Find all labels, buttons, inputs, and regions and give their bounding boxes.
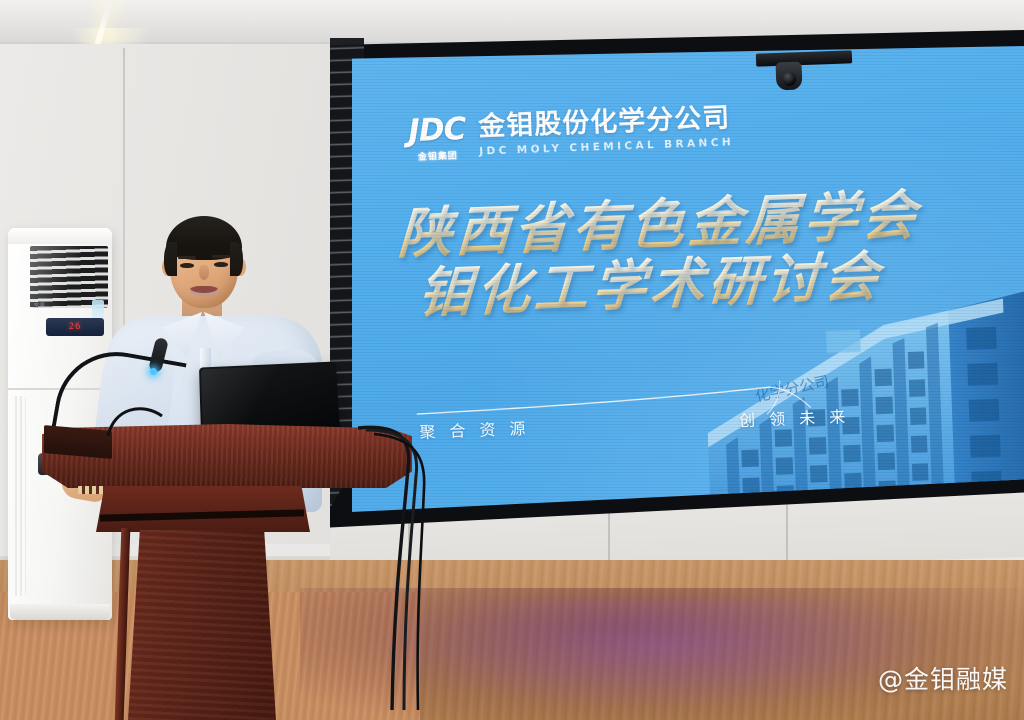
jdc-logo-mark: JDC [408, 114, 466, 147]
ac-side-grille [12, 396, 26, 596]
presenter-brow-left [178, 256, 196, 259]
slogan-left: 聚合资源 [419, 415, 540, 443]
presenter-hair-side-left [164, 242, 177, 276]
slide-logo: JDC 金钼集团 金钼股份化学分公司 JDC MOLY CHEMICAL BRA… [408, 104, 735, 163]
presenter-hair-side-right [230, 242, 243, 276]
slide-surface: 化学分公司 JDC 金钼集团 金钼股份化学分公司 JDC MOLY CHEMIC… [352, 46, 1024, 512]
jdc-logo-sub: 金钼集团 [418, 148, 458, 162]
floor-screen-reflection-core [380, 600, 940, 710]
presenter-eye-right [214, 262, 228, 267]
presentation-room-photo: 化学分公司 JDC 金钼集团 金钼股份化学分公司 JDC MOLY CHEMIC… [0, 0, 1024, 720]
company-name-cn: 金钼股份化学分公司 [478, 104, 734, 142]
ac-base [10, 604, 110, 620]
podium-tray [44, 425, 112, 459]
microphone-status-led [150, 368, 157, 375]
ac-brand-label: 空调 [34, 302, 45, 309]
slide-title: 陕西省有色金属学会 钼化工学术研讨会 [397, 184, 961, 323]
podium-column-grain [128, 530, 276, 720]
watermark: @金钼融媒 [878, 660, 1008, 696]
presenter-eye-left [180, 263, 194, 268]
presenter-nose [199, 265, 209, 280]
camera-lens-icon [783, 72, 796, 86]
slogan-right: 创领未来 [739, 403, 860, 431]
presenter-brow-right [212, 255, 230, 258]
led-display-wall: 化学分公司 JDC 金钼集团 金钼股份化学分公司 JDC MOLY CHEMIC… [330, 30, 1024, 530]
presenter-mouth [190, 286, 218, 296]
ac-temperature-value: 26 [69, 322, 82, 332]
